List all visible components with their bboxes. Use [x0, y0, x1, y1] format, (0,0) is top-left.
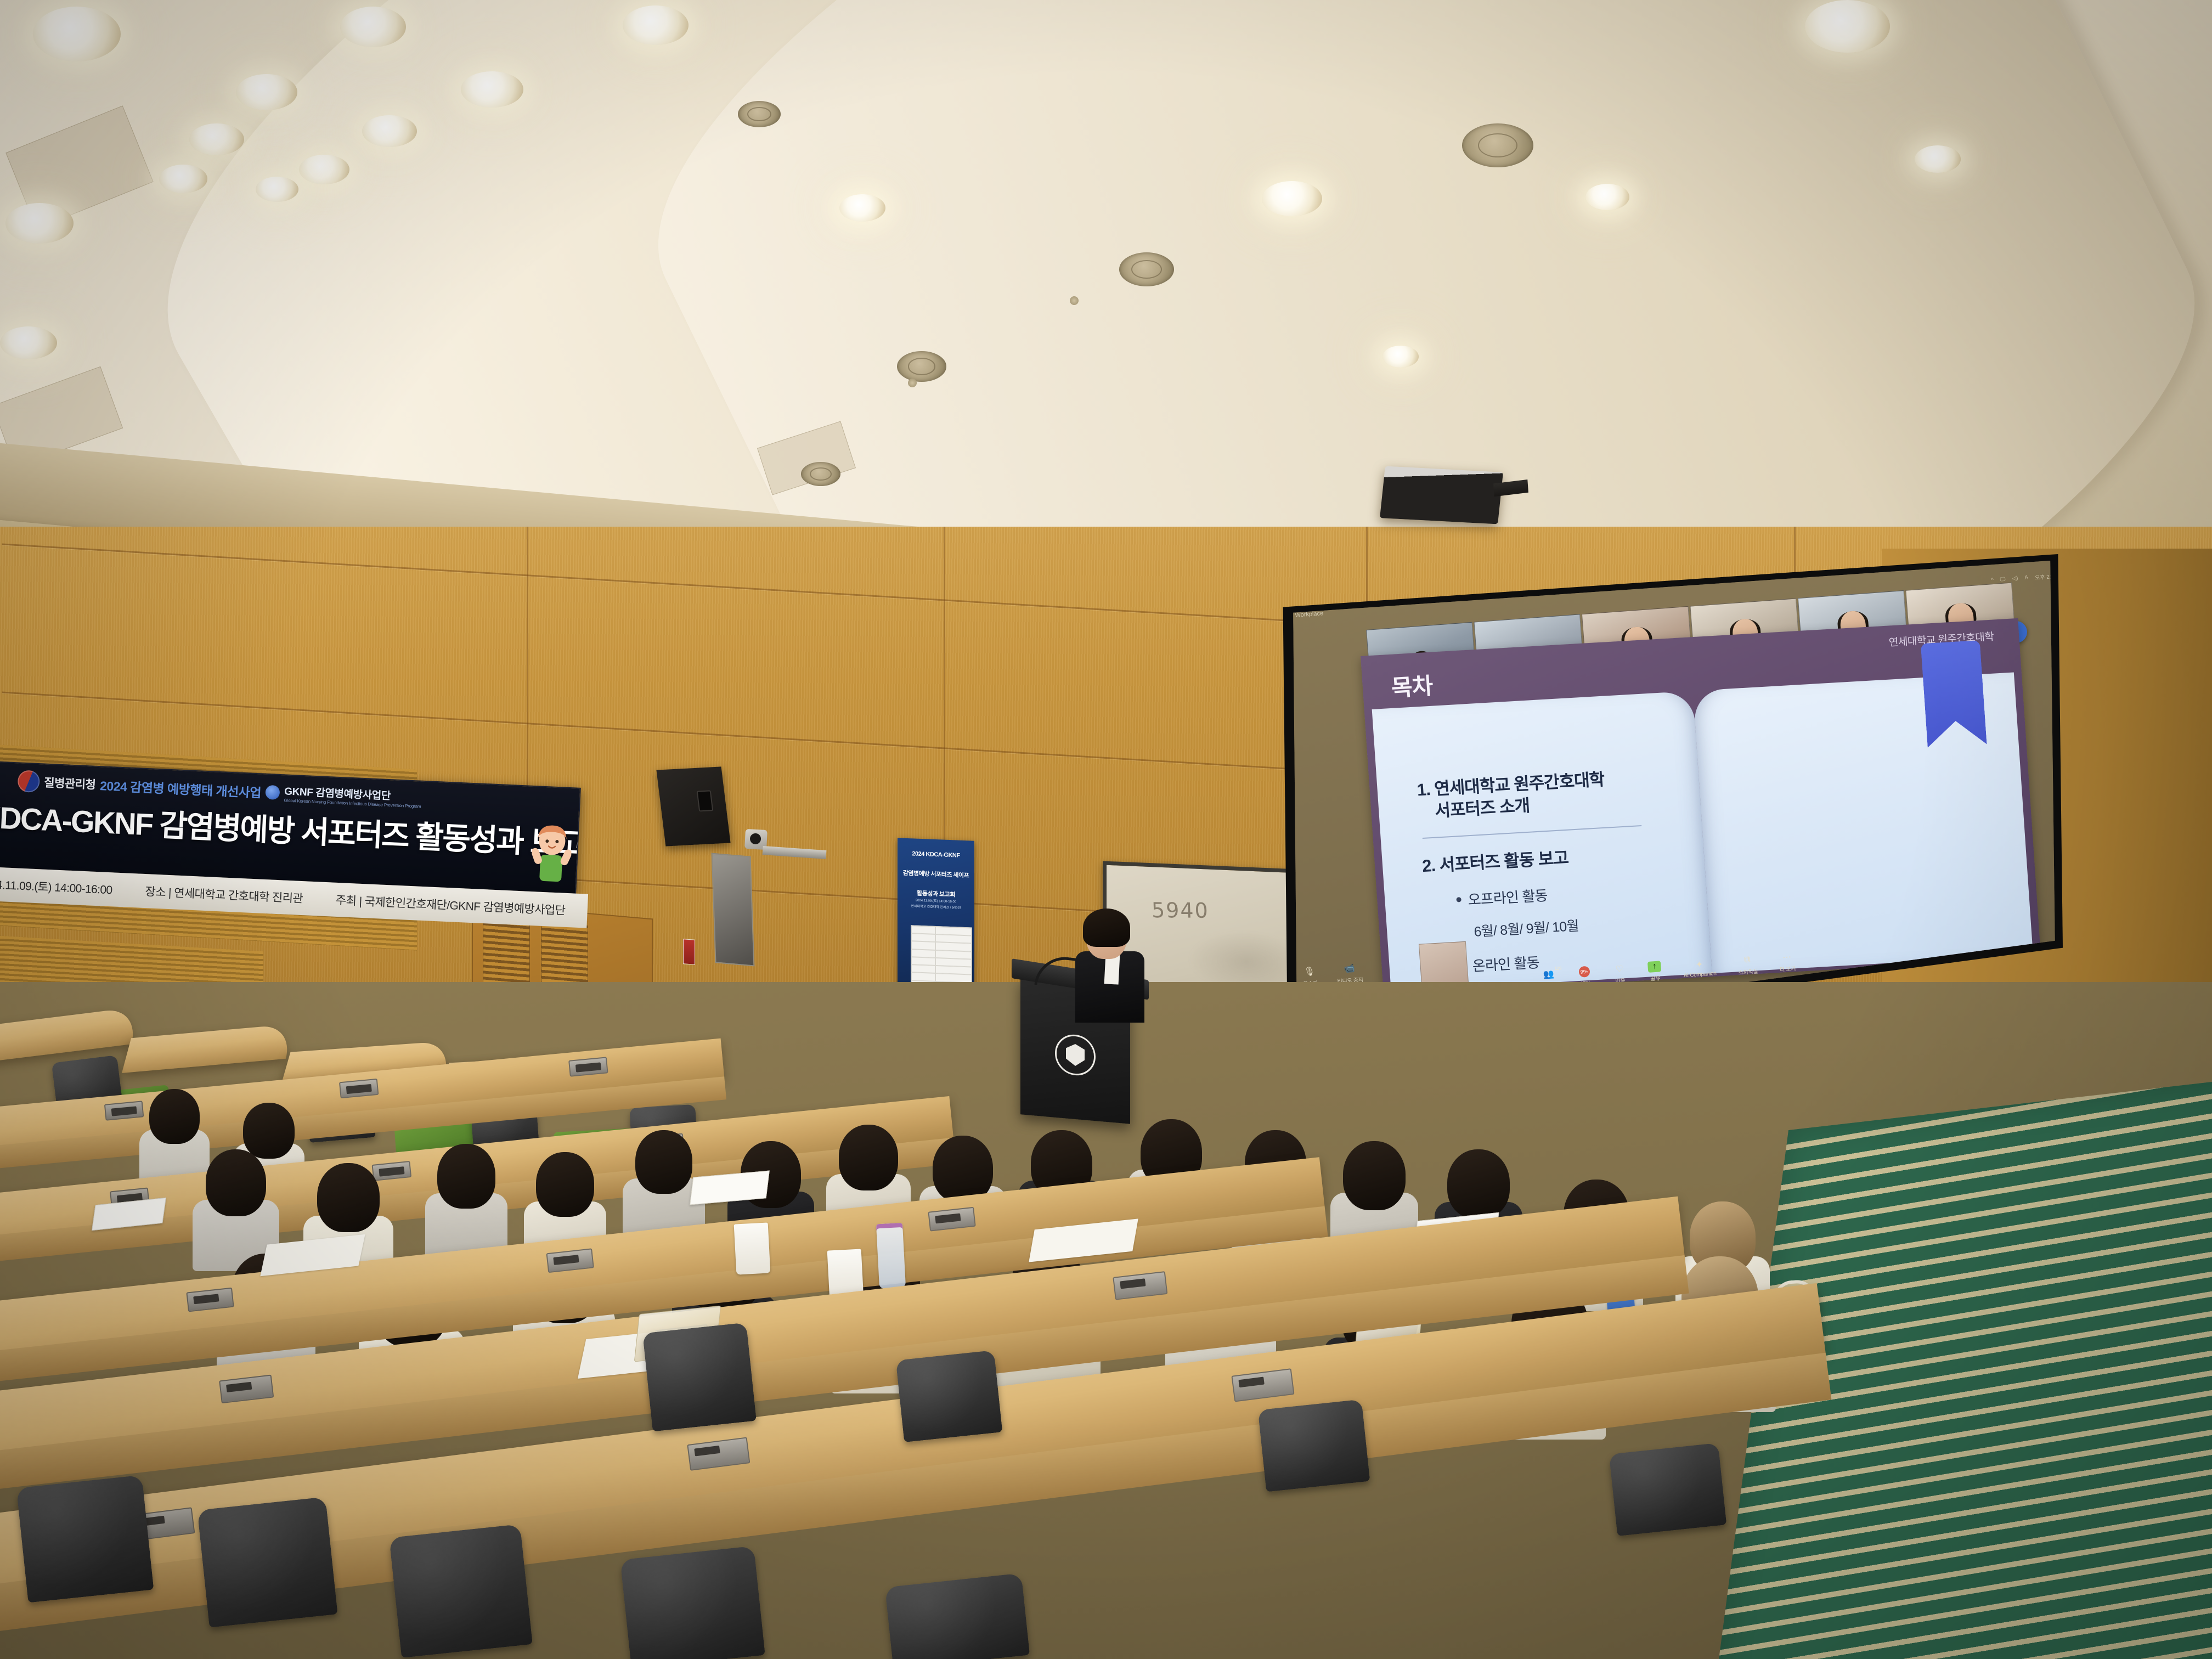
toc-subentry: 오프라인 활동: [1424, 879, 1646, 912]
ai-companion-button[interactable]: ✦ AI Companion: [1683, 958, 1717, 979]
ceiling-downlight: [299, 155, 349, 184]
banner-location: 장소 | 연세대학교 간호대학 진리관: [145, 883, 303, 906]
sprinkler-head: [1070, 296, 1079, 305]
bookmark-ribbon-icon: [1921, 640, 1987, 748]
microphone-icon: 🎙: [1302, 966, 1316, 978]
ceiling-downlight: [340, 7, 406, 47]
poster-line3: 활동성과 보고회: [898, 877, 974, 900]
toc-divider: [1423, 825, 1641, 839]
more-options-button[interactable]: ⋯ 더 보기: [1779, 951, 1796, 973]
ai-companion-icon: ✦: [1692, 958, 1706, 970]
sprinkler-head: [908, 379, 917, 387]
slide-page-right: 3. 활동 소감 A-GKNF 감염병예방 서포터즈: [1693, 672, 2033, 973]
toc-entry: 2. 서포터즈 활동 보고: [1421, 843, 1644, 877]
air-diffuser: [801, 462, 840, 486]
share-screen-button[interactable]: ↑ 공유: [1647, 961, 1662, 983]
reactions-icon: ♡: [1612, 963, 1626, 975]
participants-icon: 👥129: [1542, 968, 1555, 980]
ceiling: [0, 0, 2212, 582]
air-diffuser: [1462, 123, 1533, 167]
ceiling-downlight: [1262, 181, 1322, 216]
zoom-view-button[interactable]: 보기: [1808, 560, 1819, 570]
camera-icon: 📹: [1342, 963, 1356, 975]
toc-detail: 6월/ 8월/ 9월/ 10월: [1426, 911, 1649, 944]
chair[interactable]: [1609, 1443, 1727, 1536]
tray-chevron-icon[interactable]: ^: [1991, 577, 1994, 583]
banner-agency-name: 질병관리청: [44, 774, 96, 793]
wall-recess-slot: [712, 853, 755, 966]
bullet-icon: [1456, 897, 1462, 902]
audience-member: [625, 1130, 702, 1240]
poster-line2: 감염병예방 서포터즈 세이프: [898, 857, 974, 880]
ceiling-downlight: [839, 194, 885, 222]
ceiling-downlight: [1383, 346, 1419, 368]
chair[interactable]: [896, 1350, 1003, 1442]
ceiling-downlight: [362, 115, 417, 147]
water-bottle: [876, 1223, 906, 1289]
ceiling-downlight: [0, 326, 57, 359]
yonsei-university-emblem-icon: [1055, 1033, 1096, 1077]
input-method-icon[interactable]: A: [2024, 574, 2028, 580]
ceiling-downlight: [159, 165, 207, 193]
audience-member: [195, 1149, 277, 1265]
banner-host: 주최 | 국제한인간호재단/GKNF 감염병예방사업단: [335, 891, 566, 918]
view-grid-icon: ▤: [1824, 560, 1830, 568]
kdca-logo-icon: [17, 770, 40, 793]
minimize-icon[interactable]: —: [1931, 554, 1939, 563]
whiteboard-written-text: 5940: [1151, 898, 1209, 923]
event-banner: 질병관리청 2024 감염병 예방행태 개선사업 GKNF 감염병예방사업단 G…: [0, 760, 581, 925]
breakout-rooms-icon: ⧉: [1740, 954, 1754, 966]
volume-icon[interactable]: ◁): [2012, 575, 2018, 582]
chair[interactable]: [197, 1497, 337, 1627]
slide-header-title: 목차: [1390, 668, 1434, 703]
ceiling-downlight: [236, 74, 297, 110]
chair[interactable]: [885, 1573, 1030, 1659]
air-diffuser: [897, 351, 946, 382]
ceiling-downlight: [5, 203, 74, 244]
air-diffuser: [738, 101, 781, 127]
banner-date-time: 2024.11.09.(토) 14:00-16:00: [0, 875, 112, 898]
chair[interactable]: [642, 1323, 757, 1432]
ceiling-downlight: [1805, 0, 1890, 53]
chat-icon: 99+: [1577, 966, 1591, 978]
ceiling-downlight: [623, 5, 689, 45]
standing-poster: 2024 KDCA-GKNF 감염병예방 서포터즈 세이프 활동성과 보고회 2…: [898, 838, 974, 1000]
ceiling-downlight: [33, 7, 121, 61]
lecture-hall-photo: 질병관리청 2024 감염병 예방행태 개선사업 GKNF 감염병예방사업단 G…: [0, 0, 2212, 1659]
ceiling-downlight: [256, 177, 298, 202]
audience-member: [428, 1144, 505, 1256]
recording-dot-icon: [1775, 566, 1779, 570]
mascot-character-icon: [530, 823, 572, 891]
ceiling-downlight: [461, 71, 523, 108]
coffee-cup: [734, 1222, 771, 1274]
ceiling-downlight: [189, 123, 244, 155]
share-screen-icon: ↑: [1647, 961, 1661, 973]
chair[interactable]: [16, 1475, 154, 1603]
wall-speaker: [656, 766, 730, 846]
presenter: [1079, 912, 1144, 1022]
air-diffuser: [1119, 252, 1174, 286]
poster-line1: 2024 KDCA-GKNF: [898, 838, 974, 860]
more-icon: ⋯: [1780, 951, 1793, 963]
encryption-shield-icon: [1761, 564, 1770, 573]
breakout-rooms-button[interactable]: ⧉ 소회의실: [1737, 954, 1758, 976]
toc-entry: 1. 연세대학교 원주간호대학 서포터즈 소개: [1417, 766, 1641, 823]
ceiling-downlight: [1915, 145, 1961, 173]
chair[interactable]: [620, 1546, 765, 1659]
ceiling-downlight: [1585, 184, 1629, 210]
projector: [1380, 466, 1503, 524]
network-icon[interactable]: 🖵: [2000, 577, 2006, 583]
chair[interactable]: [389, 1524, 533, 1658]
gknf-logo-icon: [266, 785, 280, 800]
fire-alarm-icon[interactable]: [683, 939, 695, 965]
chair[interactable]: [1258, 1399, 1370, 1492]
